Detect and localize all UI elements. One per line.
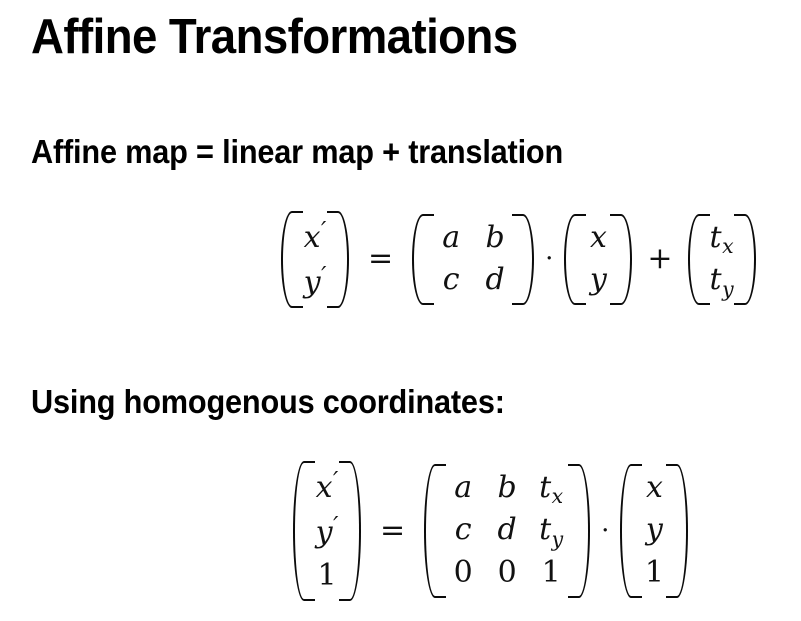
right-paren-icon [349, 459, 363, 603]
left-paren-icon [279, 209, 293, 310]
left-paren-icon [410, 212, 424, 307]
matrix-cell: ty [529, 509, 573, 552]
matrix-cell: 1 [529, 552, 573, 595]
matrix-cell: d [473, 259, 517, 302]
right-paren-icon [337, 209, 351, 310]
matrix-cell: c [441, 509, 485, 552]
equation-affine-map: x′ y′ = a b c [279, 209, 758, 310]
prime-mark: ′ [333, 511, 338, 539]
subscript: y [722, 277, 734, 301]
left-paren-icon [562, 212, 576, 307]
matrix-cell: tx [529, 467, 573, 510]
left-paren-icon [422, 462, 436, 600]
eq2-homogeneous-matrix: a b tx c d ty 0 0 1 [422, 462, 592, 600]
matrix-cell: b [473, 217, 517, 260]
equals-sign: = [363, 516, 422, 546]
right-paren-icon [522, 212, 536, 307]
heading-homogenous-coordinates: Using homogenous coordinates: [31, 383, 505, 421]
right-paren-icon [620, 212, 634, 307]
slide-canvas: Affine Transformations Affine map = line… [0, 0, 801, 621]
left-paren-icon [291, 459, 305, 603]
left-paren-icon [686, 212, 700, 307]
subscript: x [722, 234, 734, 258]
heading-affine-map: Affine map = linear map + translation [31, 133, 563, 171]
eq1-point-vector: x y [562, 212, 634, 307]
subscript: x [552, 484, 564, 508]
eq1-linear-matrix: a b c d [410, 212, 536, 307]
matrix-cell: a [429, 217, 473, 260]
prime-mark: ′ [333, 466, 338, 494]
equation-homogeneous-form: x′ y′ 1 = a b [291, 459, 690, 603]
left-paren-icon [618, 462, 632, 600]
matrix-cell: c [429, 259, 473, 302]
plus-sign: + [634, 244, 685, 274]
dot-operator: · [536, 246, 562, 272]
matrix-cell: 0 [485, 552, 529, 595]
eq2-point-vector: x y 1 [618, 462, 690, 600]
subscript: y [552, 527, 564, 551]
right-paren-icon [676, 462, 690, 600]
equals-sign: = [351, 244, 410, 274]
eq2-lhs-vector: x′ y′ 1 [291, 459, 363, 603]
eq1-lhs-vector: x′ y′ [279, 209, 351, 310]
prime-mark: ′ [321, 261, 326, 289]
matrix-cell: b [485, 467, 529, 510]
prime-mark: ′ [321, 216, 326, 244]
matrix-cell: 0 [441, 552, 485, 595]
eq1-translation-vector: tx ty [686, 212, 758, 307]
dot-operator: · [592, 518, 618, 544]
right-paren-icon [578, 462, 592, 600]
right-paren-icon [744, 212, 758, 307]
page-title: Affine Transformations [31, 10, 518, 65]
matrix-cell: d [485, 509, 529, 552]
matrix-cell: a [441, 467, 485, 510]
